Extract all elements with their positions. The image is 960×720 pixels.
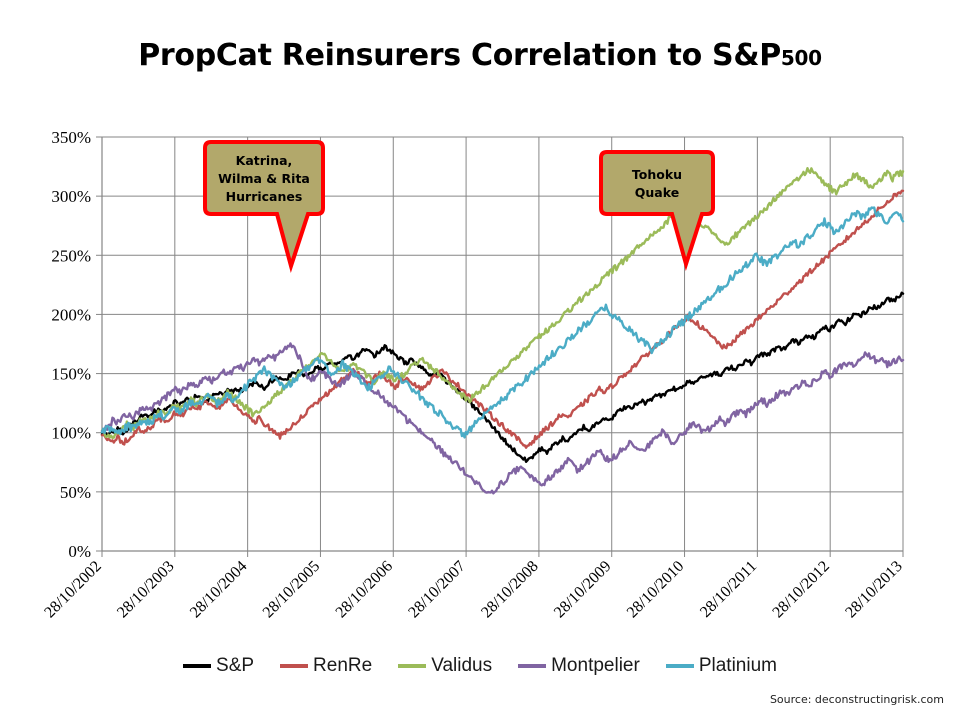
- x-tick-label: 28/10/2005: [260, 558, 324, 622]
- chart-container: PropCat Reinsurers Correlation to S&P500…: [0, 0, 960, 720]
- y-tick-label: 100%: [51, 424, 91, 443]
- y-tick-label: 150%: [51, 365, 91, 384]
- x-axis-ticks: 28/10/200228/10/200328/10/200428/10/2005…: [41, 551, 906, 621]
- y-tick-label: 350%: [51, 128, 91, 147]
- y-tick-label: 50%: [60, 483, 91, 502]
- legend-label: RenRe: [313, 655, 372, 677]
- legend-swatch: [518, 664, 546, 668]
- legend-swatch: [398, 664, 426, 668]
- legend-item-renre[interactable]: RenRe: [280, 655, 372, 677]
- y-tick-label: 300%: [51, 187, 91, 206]
- series-line-montpelier: [102, 344, 903, 494]
- legend-item-validus[interactable]: Validus: [398, 655, 492, 677]
- legend-item-s-p[interactable]: S&P: [183, 655, 254, 677]
- katrina-callout-line: Hurricanes: [226, 189, 303, 204]
- x-tick-label: 28/10/2012: [769, 558, 833, 622]
- x-tick-label: 28/10/2009: [551, 558, 615, 622]
- legend-item-montpelier[interactable]: Montpelier: [518, 655, 640, 677]
- x-tick-label: 28/10/2011: [697, 558, 760, 621]
- tohoku-callout-line: Quake: [635, 185, 679, 200]
- katrina-callout-line: Katrina,: [236, 153, 293, 168]
- y-tick-label: 250%: [51, 246, 91, 265]
- x-tick-label: 28/10/2002: [41, 558, 105, 622]
- data-series-group: [102, 168, 903, 493]
- legend-item-platinium[interactable]: Platinium: [666, 655, 777, 677]
- katrina-callout-line: Wilma & Rita: [218, 171, 310, 186]
- chart-plot-svg: 0%50%100%150%200%250%300%350% 28/10/2002…: [0, 0, 960, 720]
- x-tick-label: 28/10/2007: [405, 558, 469, 622]
- series-line-s-p: [102, 293, 903, 462]
- x-tick-label: 28/10/2006: [333, 558, 397, 622]
- series-line-renre: [102, 191, 903, 448]
- legend-swatch: [183, 664, 211, 668]
- series-line-platinium: [102, 208, 903, 438]
- source-note: Source: deconstructingrisk.com: [770, 693, 944, 706]
- y-tick-label: 200%: [51, 305, 91, 324]
- legend-swatch: [666, 664, 694, 668]
- y-axis-ticks: 0%50%100%150%200%250%300%350%: [51, 128, 102, 561]
- chart-legend: S&PRenReValidusMontpelierPlatinium: [0, 655, 960, 677]
- x-tick-label: 28/10/2010: [624, 558, 688, 622]
- legend-label: Validus: [431, 655, 492, 677]
- legend-swatch: [280, 664, 308, 668]
- legend-label: Montpelier: [551, 655, 640, 677]
- tohoku-callout-line: Tohoku: [632, 167, 682, 182]
- legend-label: S&P: [216, 655, 254, 677]
- x-tick-label: 28/10/2004: [187, 558, 251, 622]
- x-tick-label: 28/10/2013: [842, 558, 906, 622]
- y-tick-label: 0%: [68, 542, 91, 561]
- x-tick-label: 28/10/2003: [114, 558, 178, 622]
- x-tick-label: 28/10/2008: [478, 558, 542, 622]
- legend-label: Platinium: [699, 655, 777, 677]
